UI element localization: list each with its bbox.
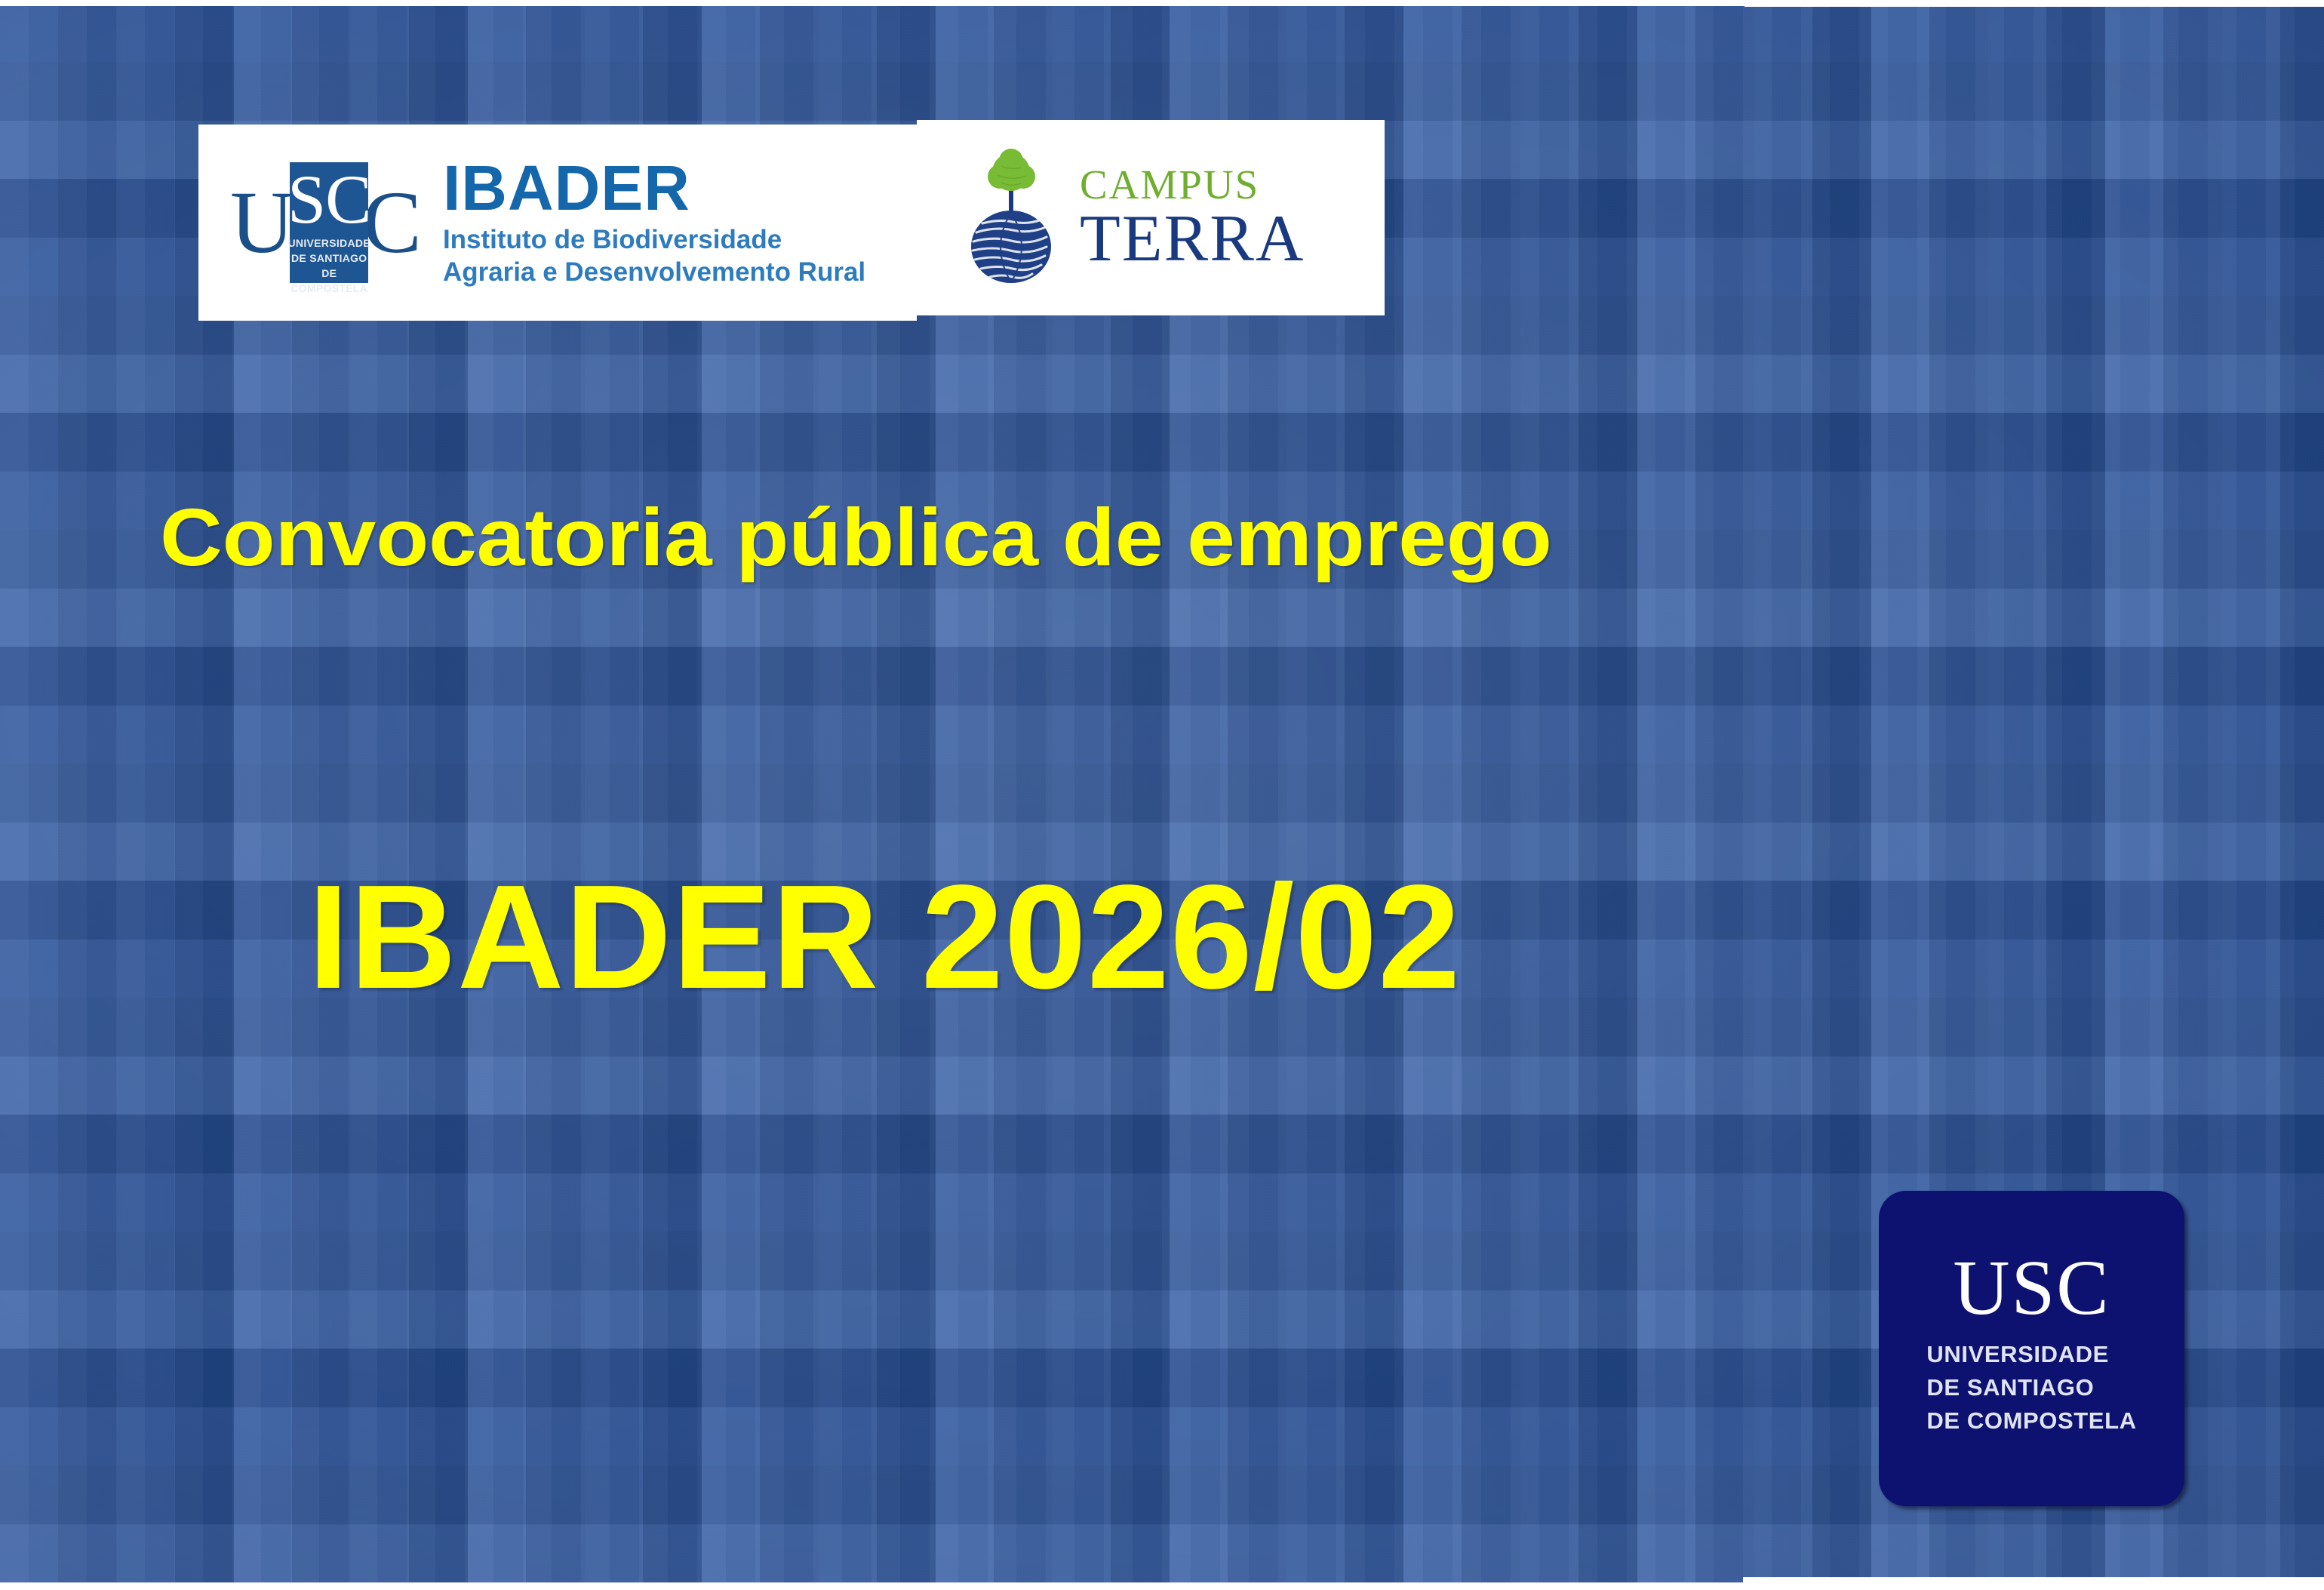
usc-square-mark: SC UNIVERSIDADE DE SANTIAGO DE COMPOSTEL…: [290, 162, 368, 283]
usc-badge-line-1: UNIVERSIDADE: [1926, 1341, 2108, 1367]
ibader-subtitle: Instituto de Biodiversidade Agraria e De…: [443, 224, 865, 288]
campus-terra-line-1: CAMPUS: [1080, 164, 1305, 205]
slide-main-title: IBADER 2026/02: [308, 860, 1461, 1014]
usc-badge-subtext: UNIVERSIDADE DE SANTIAGO DE COMPOSTELA: [1926, 1338, 2136, 1438]
ibader-title: IBADER: [443, 157, 865, 219]
usc-badge: USC UNIVERSIDADE DE SANTIAGO DE COMPOSTE…: [1879, 1191, 2184, 1506]
ibader-subtitle-line-2: Agraria e Desenvolvemento Rural: [443, 257, 865, 287]
ibader-wordmark: IBADER Instituto de Biodiversidade Agrar…: [443, 157, 865, 289]
usc-badge-line-2: DE SANTIAGO: [1926, 1374, 2094, 1401]
usc-badge-line-3: DE COMPOSTELA: [1926, 1407, 2136, 1434]
campus-terra-line-2: TERRA: [1080, 207, 1305, 272]
usc-badge-acronym: USC: [1953, 1249, 2110, 1327]
campus-terra-lockup: CAMPUS TERRA: [956, 148, 1305, 288]
usc-square-subtext: UNIVERSIDADE DE SANTIAGO DE COMPOSTELA: [288, 236, 370, 297]
usc-square-letters: SC: [287, 167, 371, 232]
campus-terra-wordmark: CAMPUS TERRA: [1080, 164, 1305, 272]
presentation-slide: U SC UNIVERSIDADE DE SANTIAGO DE COMPOST…: [0, 0, 2324, 1590]
usc-square-line-3: DE COMPOSTELA: [290, 267, 367, 294]
usc-letter-c: C: [362, 184, 422, 260]
ibader-logo-panel: U SC UNIVERSIDADE DE SANTIAGO DE COMPOST…: [198, 125, 917, 321]
bottom-right-white-margin: [1743, 1577, 2324, 1590]
ibader-subtitle-line-1: Instituto de Biodiversidade: [443, 225, 782, 254]
tree-globe-icon: [956, 148, 1069, 288]
usc-square-line-1: UNIVERSIDADE: [288, 237, 370, 249]
campus-terra-logo-panel: CAMPUS TERRA: [917, 120, 1385, 315]
slide-headline: Convocatoria pública de emprego: [160, 494, 1552, 580]
usc-letter-u: U: [230, 184, 294, 260]
usc-ibader-lockup: U SC UNIVERSIDADE DE SANTIAGO DE COMPOST…: [230, 157, 865, 289]
bottom-white-margin: [0, 1582, 1743, 1590]
top-white-margin: [1745, 0, 2324, 7]
usc-square-line-2: DE SANTIAGO: [291, 252, 367, 264]
